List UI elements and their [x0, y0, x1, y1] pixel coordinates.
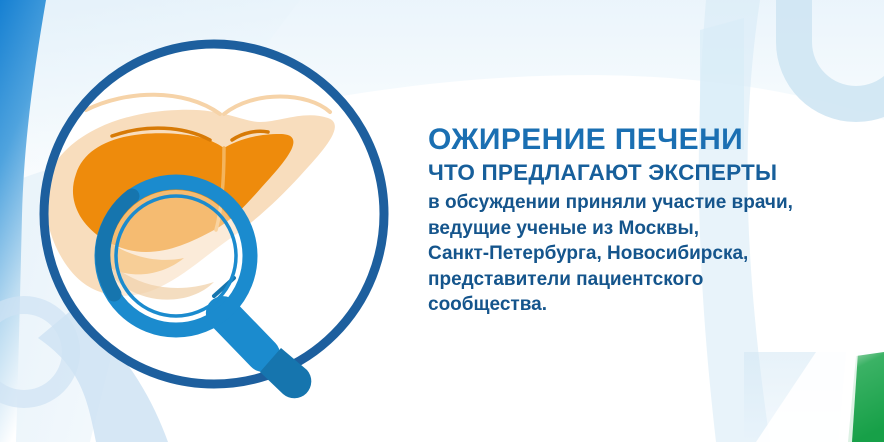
banner-root: ОЖИРЕНИЕ ПЕЧЕНИ ЧТО ПРЕДЛАГАЮТ ЭКСПЕРТЫ … [0, 0, 884, 442]
body-line: Санкт-Петербурга, Новосибирска, [428, 241, 858, 267]
page-title: ОЖИРЕНИЕ ПЕЧЕНИ [428, 124, 858, 156]
body-line: в обсуждении приняли участие врачи, [428, 190, 858, 216]
body-paragraph: в обсуждении приняли участие врачи, веду… [428, 190, 858, 318]
body-line: ведущие ученые из Москвы, [428, 216, 858, 242]
body-line: представители пациентского [428, 267, 858, 293]
liver-magnifier-illustration [28, 26, 404, 408]
page-subtitle: ЧТО ПРЕДЛАГАЮТ ЭКСПЕРТЫ [428, 160, 858, 185]
headline-text-block: ОЖИРЕНИЕ ПЕЧЕНИ ЧТО ПРЕДЛАГАЮТ ЭКСПЕРТЫ … [428, 124, 858, 318]
body-line: сообщества. [428, 292, 858, 318]
